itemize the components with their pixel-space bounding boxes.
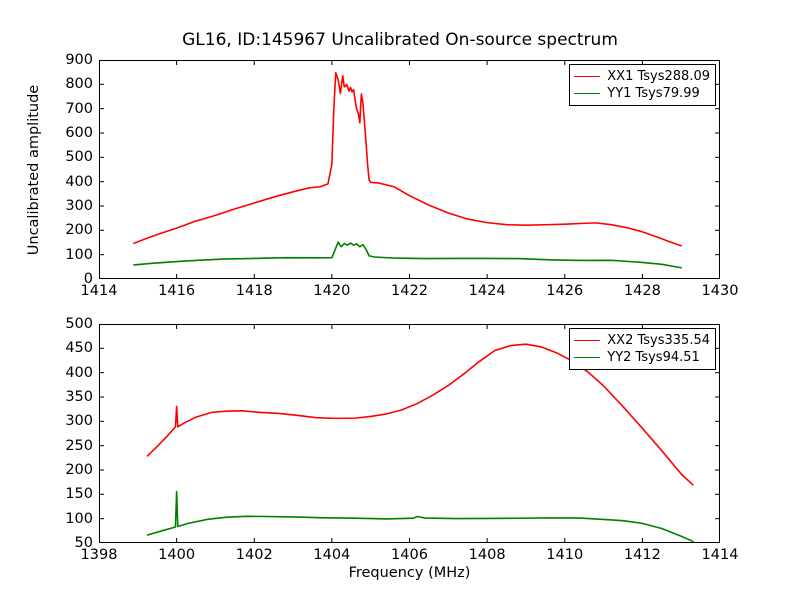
y-tick-label: 600 xyxy=(39,125,93,141)
x-tick-label: 1406 xyxy=(391,547,428,563)
legend-color-swatch xyxy=(574,93,600,94)
legend-color-swatch xyxy=(574,340,600,341)
legend-label: XX1 Tsys288.09 xyxy=(607,69,710,84)
y-tick-label: 350 xyxy=(39,389,93,405)
bottom-plot-x-axis-label: Frequency (MHz) xyxy=(99,565,720,581)
x-tick-label: 1414 xyxy=(702,547,739,563)
x-tick-label: 1400 xyxy=(158,547,195,563)
legend-entry: XX2 Tsys335.54 xyxy=(574,332,710,349)
top-plot-legend: XX1 Tsys288.09YY1 Tsys79.99 xyxy=(569,64,716,106)
legend-color-swatch xyxy=(574,357,600,358)
legend-entry: YY1 Tsys79.99 xyxy=(574,85,710,102)
y-tick-label: 300 xyxy=(39,198,93,214)
y-tick-label: 500 xyxy=(39,149,93,165)
legend-label: YY2 Tsys94.51 xyxy=(607,350,700,365)
top-plot-panel: XX1 Tsys288.09YY1 Tsys79.99 xyxy=(99,60,720,279)
x-tick-label: 1430 xyxy=(702,283,739,299)
x-tick-label: 1426 xyxy=(546,283,583,299)
trace-line xyxy=(134,242,681,268)
y-tick-label: 800 xyxy=(39,76,93,92)
y-tick-label: 200 xyxy=(39,462,93,478)
x-tick-label: 1412 xyxy=(624,547,661,563)
x-tick-label: 1418 xyxy=(236,283,273,299)
y-tick-label: 200 xyxy=(39,222,93,238)
y-tick-label: 300 xyxy=(39,413,93,429)
y-tick-label: 900 xyxy=(39,52,93,68)
x-tick-label: 1420 xyxy=(313,283,350,299)
y-tick-label: 100 xyxy=(39,511,93,527)
y-tick-label: 400 xyxy=(39,174,93,190)
x-tick-label: 1398 xyxy=(81,547,118,563)
x-tick-label: 1424 xyxy=(469,283,506,299)
bottom-plot-panel: XX2 Tsys335.54YY2 Tsys94.51 xyxy=(99,324,720,543)
x-tick-label: 1404 xyxy=(313,547,350,563)
x-tick-label: 1408 xyxy=(469,547,506,563)
legend-entry: YY2 Tsys94.51 xyxy=(574,349,710,366)
x-tick-label: 1428 xyxy=(624,283,661,299)
x-tick-label: 1410 xyxy=(546,547,583,563)
legend-color-swatch xyxy=(574,76,600,77)
legend-label: XX2 Tsys335.54 xyxy=(607,333,710,348)
x-tick-label: 1416 xyxy=(158,283,195,299)
figure-title: GL16, ID:145967 Uncalibrated On-source s… xyxy=(0,30,800,50)
y-tick-label: 400 xyxy=(39,365,93,381)
y-tick-label: 100 xyxy=(39,247,93,263)
legend-label: YY1 Tsys79.99 xyxy=(607,86,700,101)
y-tick-label: 250 xyxy=(39,438,93,454)
y-tick-label: 150 xyxy=(39,486,93,502)
x-tick-label: 1402 xyxy=(236,547,273,563)
y-tick-label: 450 xyxy=(39,340,93,356)
trace-line xyxy=(148,492,693,542)
x-tick-label: 1422 xyxy=(391,283,428,299)
x-tick-label: 1414 xyxy=(81,283,118,299)
bottom-plot-legend: XX2 Tsys335.54YY2 Tsys94.51 xyxy=(569,328,716,370)
legend-entry: XX1 Tsys288.09 xyxy=(574,68,710,85)
top-plot-y-axis-label: Uncalibrated amplitude xyxy=(26,84,42,254)
y-tick-label: 500 xyxy=(39,316,93,332)
y-tick-label: 700 xyxy=(39,101,93,117)
figure-canvas: GL16, ID:145967 Uncalibrated On-source s… xyxy=(0,0,800,600)
